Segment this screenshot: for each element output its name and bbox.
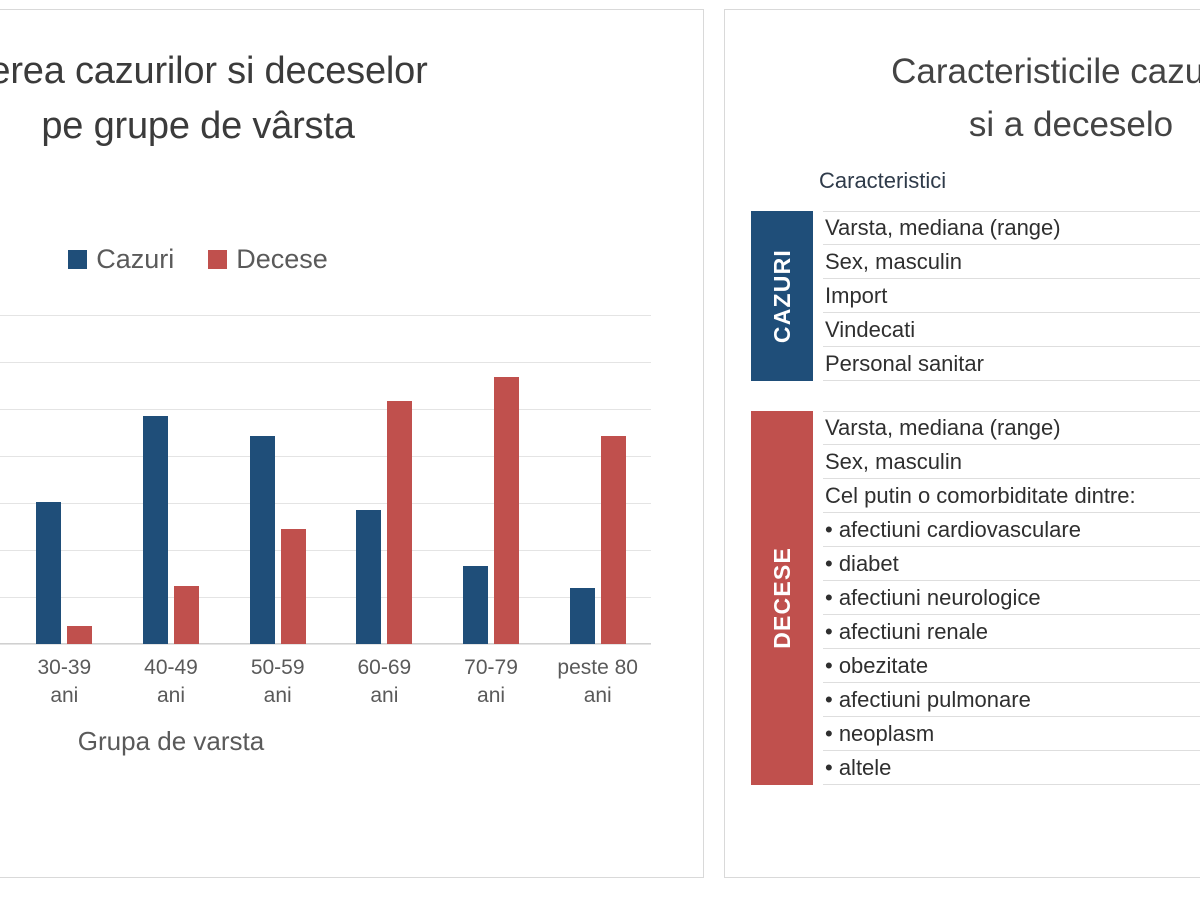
block-label-cazuri: CAZURI: [751, 211, 813, 381]
slide-root: derea cazurilor si deceselor pe grupe de…: [0, 0, 1200, 900]
chart-x-axis-labels: 0-9 ani10-19 ani20-29 ani30-39 ani40-49 …: [0, 654, 651, 711]
bar-decese[interactable]: [67, 626, 92, 645]
table-title-line-2: si a deceselo: [751, 99, 1200, 152]
table-row: • altele: [823, 751, 1200, 785]
table-row: Sex, masculin: [823, 245, 1200, 279]
legend-label-cazuri: Cazuri: [96, 244, 174, 275]
bar-cazuri[interactable]: [356, 510, 381, 644]
legend-label-decese: Decese: [236, 244, 328, 275]
chart-panel: derea cazurilor si deceselor pe grupe de…: [0, 9, 704, 878]
x-axis-label: 30-39 ani: [11, 654, 118, 711]
table-title-line-1: Caracteristicile cazurilo: [751, 46, 1200, 99]
bar-cazuri[interactable]: [250, 436, 275, 644]
block-label-decese-text: DECESE: [769, 547, 796, 649]
table-row: Varsta, mediana (range): [823, 211, 1200, 245]
table-row: • neoplasm: [823, 717, 1200, 751]
chart-bars: [0, 315, 651, 644]
table-row: • afectiuni renale: [823, 615, 1200, 649]
table-row: Import: [823, 279, 1200, 313]
table-title: Caracteristicile cazurilo si a deceselo: [751, 46, 1200, 151]
bar-decese[interactable]: [494, 377, 519, 644]
x-axis-label: peste 80 ani: [544, 654, 651, 711]
chart-title-line-1: derea cazurilor si deceselor: [0, 44, 704, 99]
bar-cazuri[interactable]: [36, 502, 61, 644]
gridline: [0, 644, 651, 645]
table-row: • diabet: [823, 547, 1200, 581]
table-row: • afectiuni neurologice: [823, 581, 1200, 615]
table-row: Personal sanitar: [823, 347, 1200, 381]
chart-legend: Cazuri Decese: [0, 244, 704, 275]
bar-group: [331, 315, 438, 644]
bar-group: [224, 315, 331, 644]
x-axis-label: 60-69 ani: [331, 654, 438, 711]
table-row: Vindecati: [823, 313, 1200, 347]
bar-group: [118, 315, 225, 644]
bar-decese[interactable]: [174, 586, 199, 644]
x-axis-label: 40-49 ani: [118, 654, 225, 711]
table-rows-decese: Varsta, mediana (range)Sex, masculinCel …: [813, 411, 1200, 785]
bar-decese[interactable]: [387, 401, 412, 644]
bar-cazuri[interactable]: [463, 566, 488, 644]
block-label-cazuri-text: CAZURI: [769, 249, 796, 343]
bar-cazuri[interactable]: [570, 588, 595, 644]
table-block-cazuri: CAZURI Varsta, mediana (range)Sex, mascu…: [751, 211, 1200, 381]
x-axis-label: 50-59 ani: [224, 654, 331, 711]
bar-group: [0, 315, 11, 644]
chart-plot-area: [0, 315, 651, 644]
table-row: Sex, masculin: [823, 445, 1200, 479]
table-row: • obezitate: [823, 649, 1200, 683]
bar-group: [11, 315, 118, 644]
table-block-decese: DECESE Varsta, mediana (range)Sex, mascu…: [751, 411, 1200, 785]
legend-swatch-decese: [208, 250, 227, 269]
legend-swatch-cazuri: [68, 250, 87, 269]
table-row: • afectiuni pulmonare: [823, 683, 1200, 717]
characteristics-panel: Caracteristicile cazurilo si a deceselo …: [724, 9, 1200, 878]
table-row: Cel putin o comorbiditate dintre:: [823, 479, 1200, 513]
x-axis-label: 70-79 ani: [438, 654, 545, 711]
chart-title: derea cazurilor si deceselor pe grupe de…: [0, 44, 704, 154]
block-label-decese: DECESE: [751, 411, 813, 785]
bar-group: [544, 315, 651, 644]
chart-title-line-2: pe grupe de vârsta: [0, 99, 704, 154]
table-row: • afectiuni cardiovasculare: [823, 513, 1200, 547]
table-rows-cazuri: Varsta, mediana (range)Sex, masculinImpo…: [813, 211, 1200, 381]
x-axis-label: 20-29 ani: [0, 654, 11, 711]
bar-decese[interactable]: [601, 436, 626, 644]
bar-group: [438, 315, 545, 644]
legend-item-decese[interactable]: Decese: [208, 244, 328, 275]
chart-x-axis-title: Grupa de varsta: [0, 726, 651, 757]
bar-cazuri[interactable]: [143, 416, 168, 644]
legend-item-cazuri[interactable]: Cazuri: [68, 244, 174, 275]
table-column-header: Caracteristici: [819, 168, 946, 194]
table-row: Varsta, mediana (range): [823, 411, 1200, 445]
bar-decese[interactable]: [281, 529, 306, 644]
